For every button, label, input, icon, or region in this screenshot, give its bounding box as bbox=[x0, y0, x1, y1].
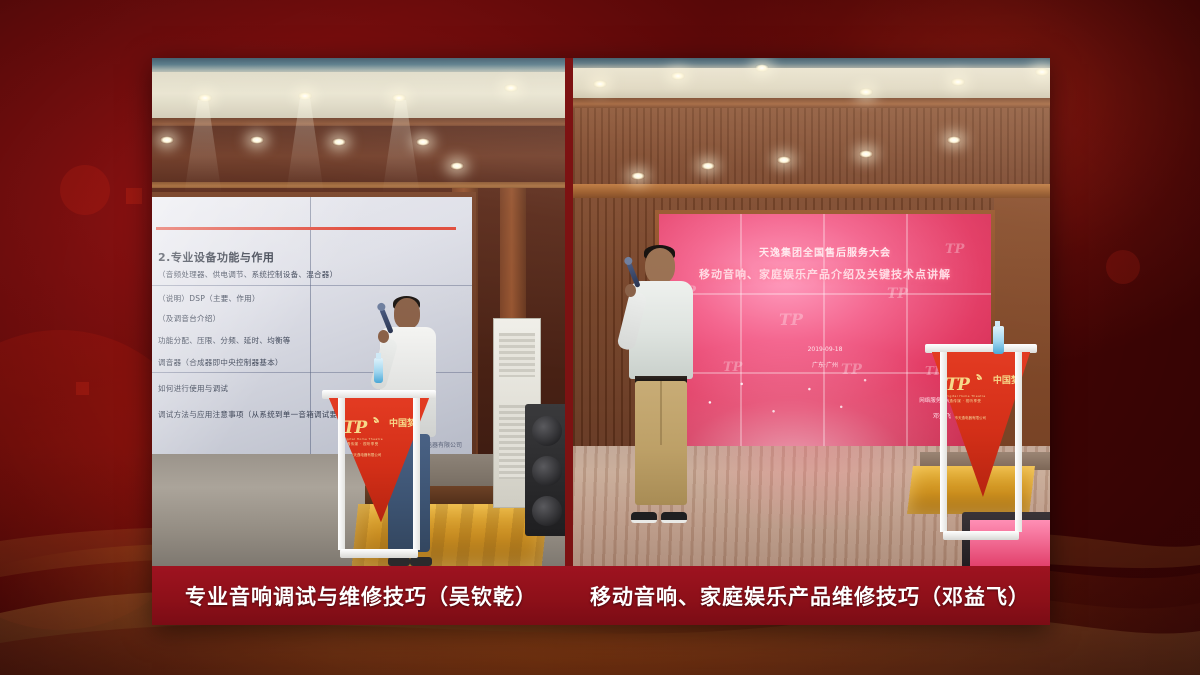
podium-left: TP Digital Home Theatre 天逸传媒 · 视听享受 中国梦 … bbox=[322, 390, 436, 558]
ceiling-downlight bbox=[1035, 68, 1049, 76]
loudspeaker bbox=[525, 404, 565, 536]
left-room-scene: 2.专业设备功能与作用 （音频处理器、供电调节、系统控制设备、混合器） （说明）… bbox=[152, 58, 565, 566]
shoe bbox=[388, 557, 410, 566]
wall-downlight bbox=[160, 136, 174, 144]
wall-downlight bbox=[450, 162, 464, 170]
podium-company: 广州市天逸电器有限公司 bbox=[343, 453, 382, 458]
caption-right: 移动音响、家庭娱乐产品维修技巧（邓益飞） bbox=[570, 581, 1050, 611]
shoe bbox=[410, 557, 432, 566]
wall-downlight bbox=[416, 138, 430, 146]
podium-base bbox=[943, 531, 1019, 540]
wall-downlight bbox=[250, 136, 264, 144]
shoe bbox=[661, 512, 687, 523]
ceiling bbox=[152, 72, 565, 120]
speaker-driver bbox=[532, 456, 562, 486]
speaker-driver bbox=[532, 416, 562, 446]
photo-collage: 2.专业设备功能与作用 （音频处理器、供电调节、系统控制设备、混合器） （说明）… bbox=[152, 58, 1050, 625]
water-bottle bbox=[374, 358, 383, 383]
photo-divider bbox=[565, 58, 573, 566]
wall-downlight bbox=[859, 150, 873, 158]
photo-row: 2.专业设备功能与作用 （音频处理器、供电调节、系统控制设备、混合器） （说明）… bbox=[152, 58, 1050, 566]
ceiling-downlight bbox=[671, 72, 685, 80]
ceiling-downlight bbox=[755, 64, 769, 72]
podium-company: 广州市天逸电器有限公司 bbox=[947, 416, 986, 421]
tp-logo-text: TP bbox=[343, 418, 366, 438]
wall-downlight bbox=[332, 138, 346, 146]
water-bottle bbox=[993, 326, 1004, 354]
tp-watermark: TP bbox=[779, 310, 803, 329]
podium-leg bbox=[413, 398, 420, 550]
wall-downlight bbox=[777, 156, 791, 164]
tp-logo-cn: 天逸传媒 · 视听享受 bbox=[343, 442, 413, 447]
ceiling-downlight bbox=[504, 84, 518, 92]
speaker-driver bbox=[532, 496, 562, 526]
tp-logo-text: TP bbox=[946, 375, 969, 395]
wall-downlight bbox=[701, 162, 715, 170]
podium-leg bbox=[338, 398, 345, 550]
ceiling bbox=[573, 68, 1050, 102]
led-panel-seam bbox=[659, 293, 991, 295]
ceiling-downlight bbox=[951, 78, 965, 86]
caption-left: 专业音响调试与维修技巧（吴钦乾） bbox=[152, 581, 570, 611]
photo-left[interactable]: 2.专业设备功能与作用 （音频处理器、供电调节、系统控制设备、混合器） （说明）… bbox=[152, 58, 565, 566]
podium-base bbox=[340, 549, 418, 558]
wall-downlight bbox=[947, 136, 961, 144]
led-title-line-2: 移动音响、家庭娱乐产品介绍及关键技术点讲解 bbox=[659, 266, 991, 282]
led-title-line-1: 天逸集团全国售后服务大会 bbox=[659, 244, 991, 259]
photo-right[interactable]: TP TP TP TP TP TP TP 天逸集团全国售后服务大会 移动音响、家… bbox=[573, 58, 1050, 566]
trousers bbox=[635, 381, 687, 505]
wall-downlight bbox=[631, 172, 645, 180]
head bbox=[645, 248, 675, 284]
podium-leg bbox=[940, 352, 947, 532]
tp-logo-cn: 天逸传媒 · 视听享受 bbox=[946, 399, 1015, 404]
ceiling-downlight bbox=[593, 80, 607, 88]
caption-band: 专业音响调试与维修技巧（吴钦乾） 移动音响、家庭娱乐产品维修技巧（邓益飞） bbox=[152, 566, 1050, 625]
ceiling-downlight bbox=[859, 88, 873, 96]
trouser-seam bbox=[660, 381, 662, 445]
floor-reflection bbox=[678, 446, 945, 530]
head bbox=[394, 298, 420, 329]
podium-leg bbox=[1015, 352, 1022, 532]
podium-right: TP Digital Home Theatre 天逸传媒 · 视听享受 中国梦 … bbox=[925, 344, 1037, 540]
shoe bbox=[631, 512, 657, 523]
podium-slogan: 中国梦 bbox=[389, 420, 416, 429]
right-room-scene: TP TP TP TP TP TP TP 天逸集团全国售后服务大会 移动音响、家… bbox=[573, 58, 1050, 566]
presenter-right bbox=[629, 248, 693, 516]
